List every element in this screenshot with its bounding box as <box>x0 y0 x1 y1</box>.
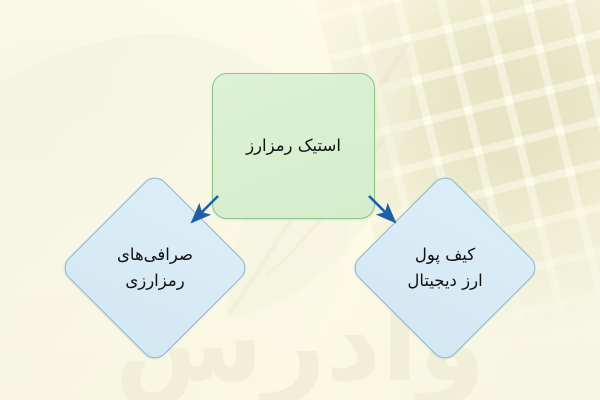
node-staking-label: استیک رمزارز <box>246 133 341 159</box>
node-exchanges-label-wrap: صرافی‌های رمزارزی <box>75 200 235 336</box>
node-exchanges-label: صرافی‌های رمزارزی <box>117 242 193 293</box>
diagram-canvas: وادرس استیک رمزارز صرافی‌های رمزارزی کیف… <box>0 0 600 400</box>
node-staking[interactable]: استیک رمزارز <box>212 73 375 219</box>
node-wallet-label: کیف پول ارز دیجیتال <box>407 242 482 293</box>
node-wallet-label-wrap: کیف پول ارز دیجیتال <box>365 200 525 336</box>
